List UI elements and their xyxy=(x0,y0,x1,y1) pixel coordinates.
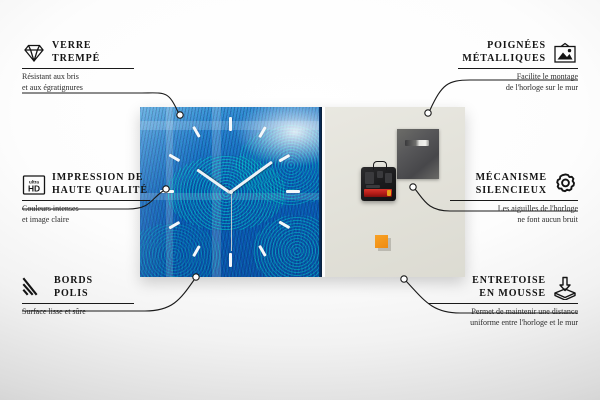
mechanism-hanger-loop xyxy=(373,161,387,170)
clock-back-panel xyxy=(325,107,465,277)
callout-entretoise-en-mousse[interactable]: ENTRETOISE EN MOUSSE Permet de maintenir… xyxy=(428,275,578,328)
callout-title-line2: TREMPÉ xyxy=(52,53,100,66)
callout-header: BORDS POLIS xyxy=(22,275,134,300)
callout-desc-line2: et aux égratignures xyxy=(22,83,134,94)
callout-desc-line1: Surface lisse et sûre xyxy=(22,307,134,318)
clock-glass-edge xyxy=(319,107,322,277)
callout-desc-line1: Permet de maintenir une distance xyxy=(428,307,578,318)
callout-rule xyxy=(428,303,578,304)
clock-tick xyxy=(286,190,300,193)
callout-title-line2: POLIS xyxy=(54,288,93,301)
mechanism-battery xyxy=(364,189,392,197)
callout-title-line1: ENTRETOISE xyxy=(472,275,546,288)
clock-tick xyxy=(229,117,232,131)
mechanism-detail xyxy=(366,185,380,188)
clock-pivot xyxy=(229,190,233,194)
callout-title-line1: IMPRESSION DE xyxy=(52,172,148,185)
callout-rule xyxy=(22,200,150,201)
foam-spacer-part xyxy=(375,235,388,248)
callout-desc-line2: uniforme entre l'horloge et le mur xyxy=(428,318,578,329)
decor-glow xyxy=(235,107,322,167)
foam-spacer-icon xyxy=(552,276,578,300)
callout-title-line1: MÉCANISME xyxy=(476,172,547,185)
clock-tick xyxy=(160,190,174,193)
battery-terminal xyxy=(387,190,391,196)
callout-rule xyxy=(450,200,578,201)
callout-desc-line1: Résistant aux bris xyxy=(22,72,134,83)
mechanism-detail xyxy=(377,171,383,178)
gear-icon xyxy=(553,172,578,197)
callout-impression-haute-qualite[interactable]: ultra HD IMPRESSION DE HAUTE QUALITÉ Cou… xyxy=(22,172,150,225)
callout-header: VERRE TREMPÉ xyxy=(22,40,134,65)
decor-moire xyxy=(140,223,222,277)
clock-tick xyxy=(229,253,232,267)
callout-desc-line2: ne font aucun bruit xyxy=(450,215,578,226)
callout-title-line2: EN MOUSSE xyxy=(472,288,546,301)
clock-second-hand xyxy=(231,193,232,251)
callout-rule xyxy=(22,68,134,69)
mechanism-detail xyxy=(385,173,392,183)
callout-desc-line1: Les aiguilles de l'horloge xyxy=(450,204,578,215)
callout-title-line1: BORDS xyxy=(54,275,93,288)
callout-desc-line1: Couleurs intenses xyxy=(22,204,150,215)
callout-rule xyxy=(22,303,134,304)
callout-rule xyxy=(458,68,578,69)
polished-edges-icon xyxy=(22,277,48,298)
callout-title-line2: HAUTE QUALITÉ xyxy=(52,185,148,198)
callout-bords-polis[interactable]: BORDS POLIS Surface lisse et sûre xyxy=(22,275,134,318)
callout-header: ENTRETOISE EN MOUSSE xyxy=(428,275,578,300)
product-photo xyxy=(140,107,465,277)
metal-handle-plate xyxy=(397,129,439,179)
callout-desc-line2: et image claire xyxy=(22,215,150,226)
infographic-canvas: VERRE TREMPÉ Résistant aux bris et aux é… xyxy=(0,0,600,400)
callout-header: MÉCANISME SILENCIEUX xyxy=(450,172,578,197)
callout-mecanisme-silencieux[interactable]: MÉCANISME SILENCIEUX Les aiguilles de l'… xyxy=(450,172,578,225)
ultra-hd-icon: ultra HD xyxy=(22,174,46,196)
diamond-icon xyxy=(22,43,46,63)
clock-face xyxy=(140,107,322,277)
callout-title-line2: MÉTALLIQUES xyxy=(462,53,546,66)
mechanism-detail xyxy=(365,172,374,184)
callout-desc-line2: de l'horloge sur le mur xyxy=(458,83,578,94)
callout-title-line2: SILENCIEUX xyxy=(476,185,547,198)
clock-mechanism xyxy=(361,167,396,201)
callout-title-line1: VERRE xyxy=(52,40,100,53)
callout-verre-trempe[interactable]: VERRE TREMPÉ Résistant aux bris et aux é… xyxy=(22,40,134,93)
callout-poignees-metalliques[interactable]: POIGNÉES MÉTALLIQUES Facilite le montage… xyxy=(458,40,578,93)
ultra-hd-icon-big-label: HD xyxy=(28,183,40,193)
callout-desc-line1: Facilite le montage xyxy=(458,72,578,83)
callout-header: POIGNÉES MÉTALLIQUES xyxy=(458,40,578,65)
callout-title-line1: POIGNÉES xyxy=(462,40,546,53)
picture-frame-hanger-icon xyxy=(552,42,578,64)
handle-slot xyxy=(405,140,429,146)
callout-header: ultra HD IMPRESSION DE HAUTE QUALITÉ xyxy=(22,172,150,197)
